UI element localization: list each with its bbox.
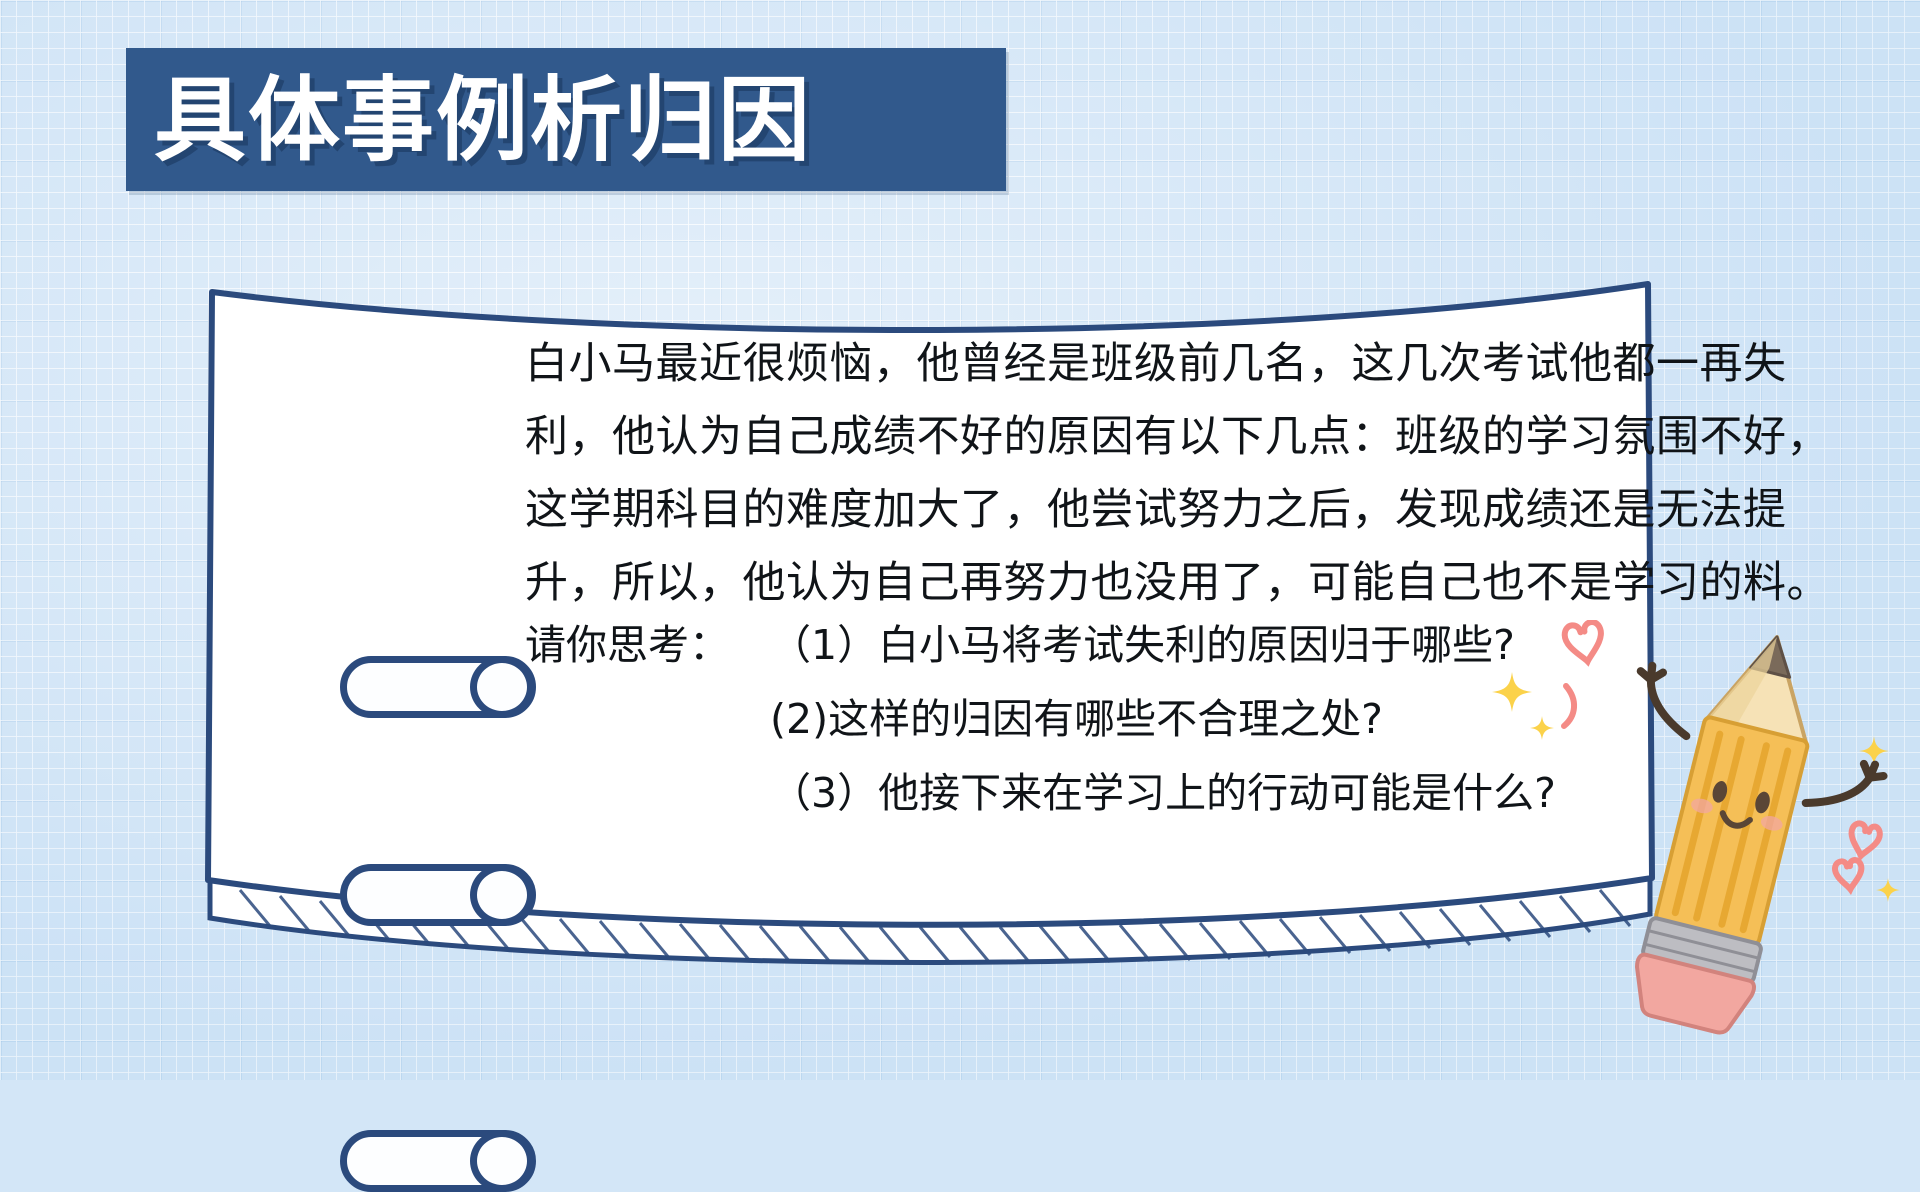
binder-ring-2 (340, 864, 536, 926)
question-2-text: (2)这样的归因有哪些不合理之处? (770, 682, 1383, 756)
binder-ring-1 (340, 656, 536, 718)
note-card: 白小马最近很烦恼，他曾经是班级前几名，这几次考试他都一再失利，他认为自己成绩不好… (200, 278, 1755, 968)
question-1-text: （1）白小马将考试失利的原因归于哪些? (770, 608, 1515, 682)
question-3-text: （3）他接下来在学习上的行动可能是什么? (770, 756, 1556, 830)
think-prompt-label: 请你思考： (525, 608, 770, 682)
pencil-right-arm (1806, 764, 1870, 816)
binder-ring-3 (340, 1130, 536, 1192)
pencil-character (1560, 620, 1920, 1050)
page-title: 具体事例析归因 (126, 74, 812, 166)
pencil-left-arm (1640, 680, 1698, 736)
title-banner: 具体事例析归因 (126, 48, 1006, 191)
pencil-left-hand (1639, 663, 1664, 682)
case-paragraph: 白小马最近很烦恼，他曾经是班级前几名，这几次考试他都一再失利，他认为自己成绩不好… (525, 328, 1870, 620)
